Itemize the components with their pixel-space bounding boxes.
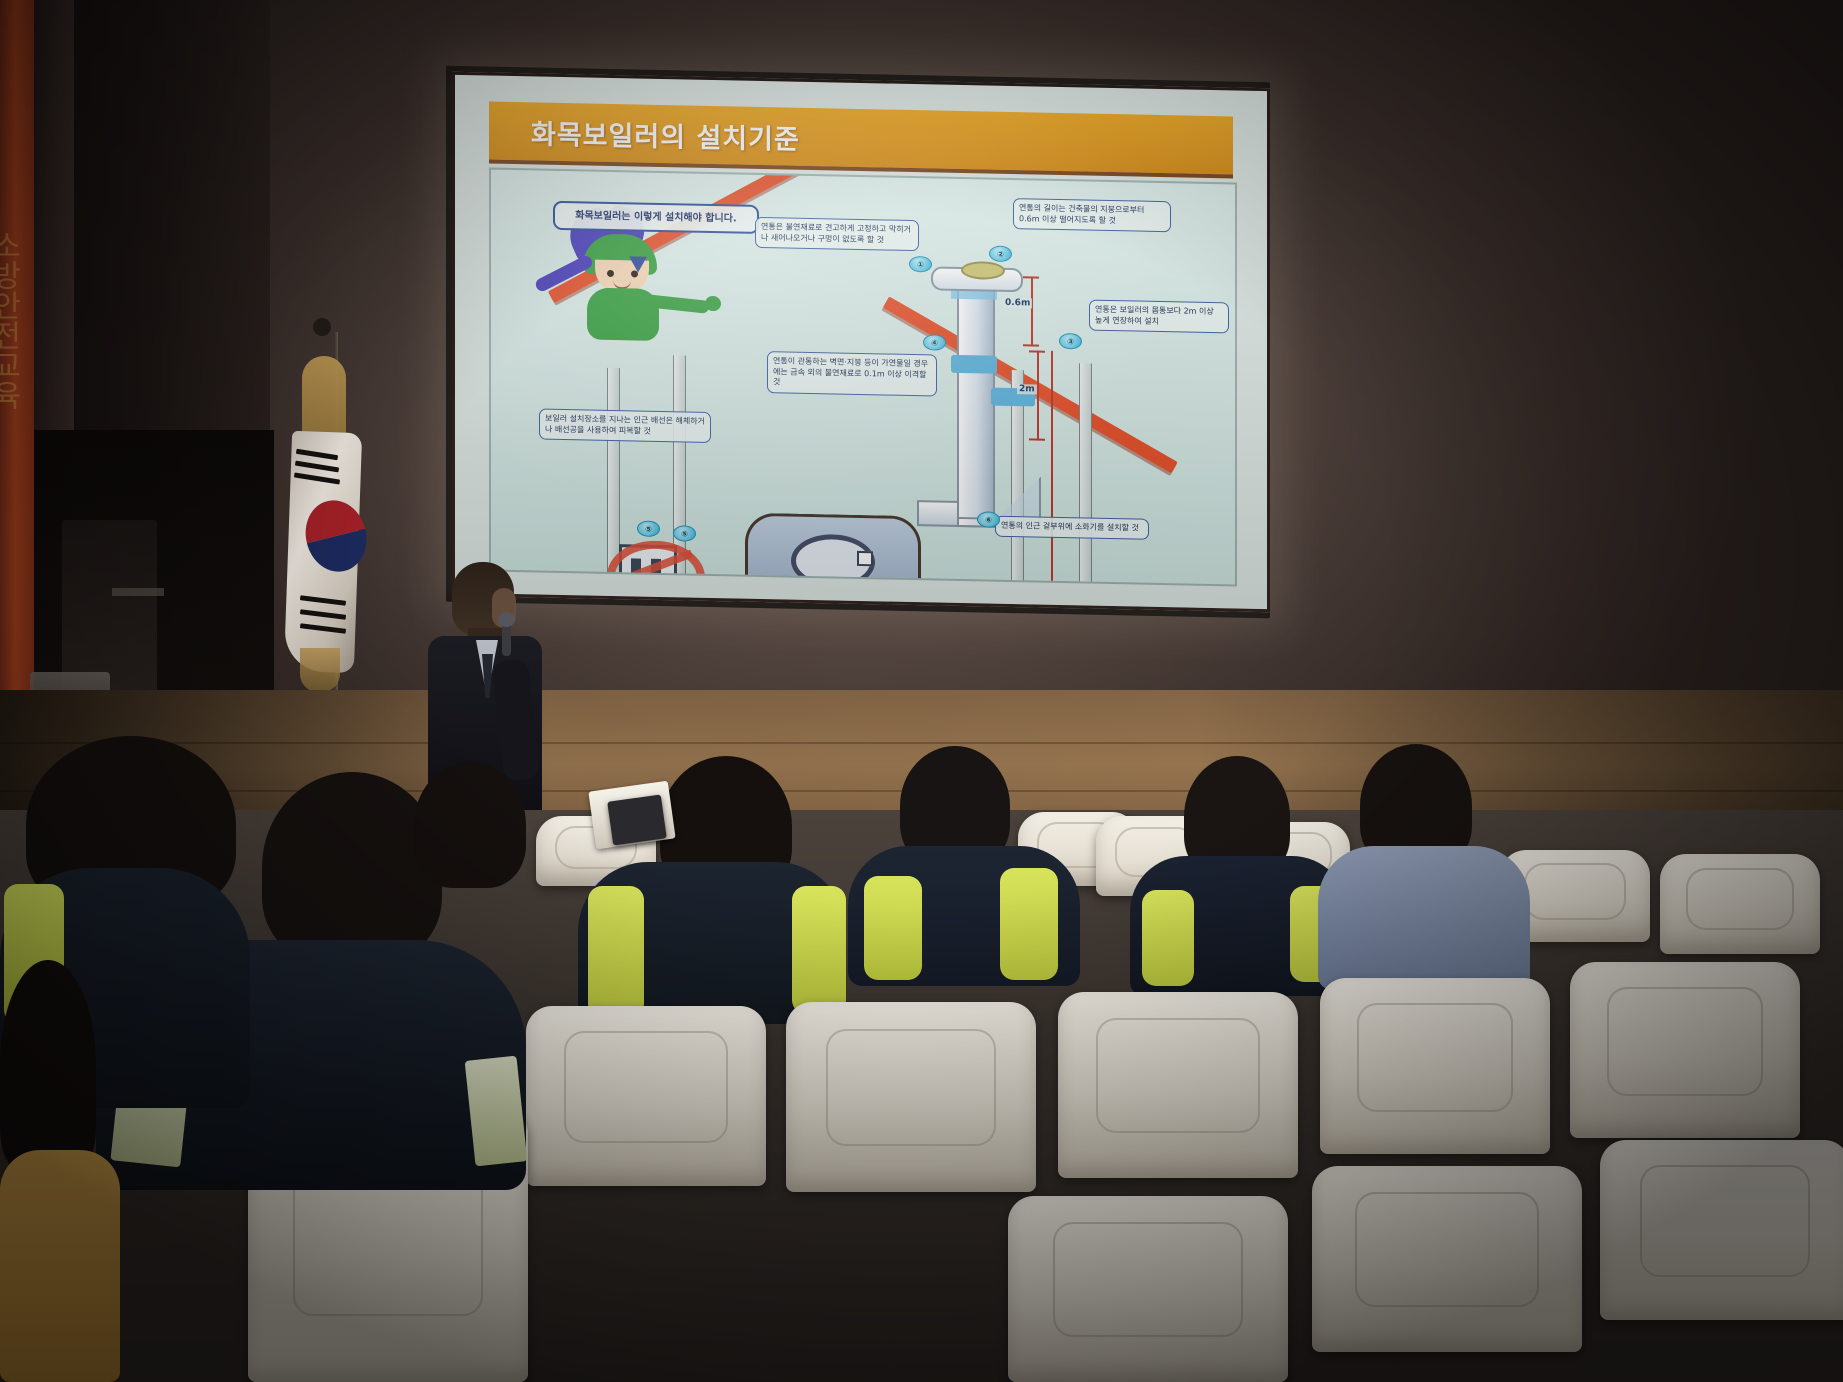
- auditorium-seat: [526, 1006, 766, 1186]
- audience-member: [414, 762, 526, 888]
- reflective-stripe: [465, 1056, 528, 1167]
- slide-title: 화목보일러의 설치기준: [489, 111, 800, 156]
- audience-member: [0, 960, 96, 1170]
- audience-member-uniform: [1318, 846, 1530, 990]
- dimension-label-06m: 0.6m: [1003, 298, 1032, 309]
- audience-member-jacket: [0, 1150, 120, 1382]
- callout-5: 보일러 설치장소를 지나는 인근 배선은 해체하거나 배선공을 사용하여 피복할…: [539, 409, 711, 443]
- dimension-tick: [1029, 350, 1045, 352]
- boiler-knob-icon: [857, 551, 873, 566]
- slide-diagram-area: 0.6m 2m 화목보일러는 이렇게 설치해야 합니다: [489, 168, 1237, 587]
- house-pillar: [1079, 363, 1092, 586]
- dimension-line-full-height: [1051, 351, 1053, 587]
- callout-1: 연통은 불연재료로 견고하게 고정하고 막히거나 새어나오거나 구멍이 없도록 …: [755, 217, 919, 251]
- callout-number-5: ⑤: [637, 521, 660, 537]
- audience-member: [262, 772, 442, 962]
- flag-pole-finial: [313, 318, 331, 336]
- photograph-scene: 소방안전교육 화목보일러의 설치기준: [0, 0, 1843, 1382]
- chimney-clamp: [951, 355, 997, 374]
- callout-number-2: ②: [989, 246, 1012, 262]
- auditorium-seat: [1320, 978, 1550, 1154]
- chimney-vertical-pipe: [957, 285, 995, 520]
- callout-2: 연통의 길이는 건축물의 지붕으로부터 0.6m 이상 떨어지도록 할 것: [1013, 198, 1171, 232]
- callout-3: 연통은 보일러의 몸통보다 2m 이상 높게 연장하여 설치: [1089, 300, 1229, 334]
- callout-number-4: ④: [923, 334, 946, 350]
- auditorium-seat: [1312, 1166, 1582, 1352]
- boiler-ash-slot: [787, 586, 877, 587]
- microphone-head-icon: [498, 612, 515, 627]
- callout-number-6: ⑥: [977, 511, 1000, 527]
- dimension-label-2m: 2m: [1017, 384, 1037, 394]
- auditorium-seat: [1058, 992, 1298, 1178]
- mascot-speech-bubble: 화목보일러는 이렇게 설치해야 합니다.: [553, 201, 759, 234]
- side-banner-text: 소방안전교육: [2, 60, 32, 580]
- red-curtain-strip: 소방안전교육: [0, 0, 34, 800]
- mascot-eye-icon: [607, 270, 614, 277]
- slide-surface: 화목보일러의 설치기준: [455, 75, 1267, 609]
- auditorium-seat: [1660, 854, 1820, 954]
- dimension-tick: [1023, 276, 1039, 278]
- dimension-tick: [1023, 344, 1039, 346]
- auditorium-seat: [1600, 1140, 1843, 1320]
- hi-vis-vest: [864, 876, 922, 980]
- hi-vis-vest: [792, 886, 846, 1014]
- dimension-tick: [1029, 438, 1045, 440]
- speech-bubble-tail: [629, 256, 647, 272]
- callout-number-3: ③: [1059, 333, 1082, 349]
- handout-inner-page: [607, 794, 667, 845]
- callout-6: 연통의 인근 겉부위에 소화기를 설치할 것: [995, 516, 1149, 540]
- auditorium-seat: [786, 1002, 1036, 1192]
- callout-number-1: ①: [909, 256, 932, 272]
- hi-vis-vest: [588, 886, 644, 1018]
- dimension-line-vertical: [1031, 276, 1033, 346]
- projection-screen: 화목보일러의 설치기준: [452, 72, 1270, 612]
- auditorium-seat: [1008, 1196, 1288, 1382]
- callout-number-5-marker: ⑤: [673, 525, 696, 541]
- callout-4: 연통이 관통하는 벽면·지붕 등이 가연물일 경우에는 금속 외의 불연재료로 …: [767, 351, 937, 396]
- dimension-line-vertical: [1037, 351, 1039, 441]
- auditorium-seat: [1570, 962, 1800, 1138]
- mascot-hand-icon: [705, 296, 721, 311]
- flag-bottom-tassel: [300, 648, 340, 692]
- hi-vis-vest: [1142, 890, 1194, 986]
- hi-vis-vest: [1000, 868, 1058, 980]
- equipment-ledge: [112, 588, 164, 596]
